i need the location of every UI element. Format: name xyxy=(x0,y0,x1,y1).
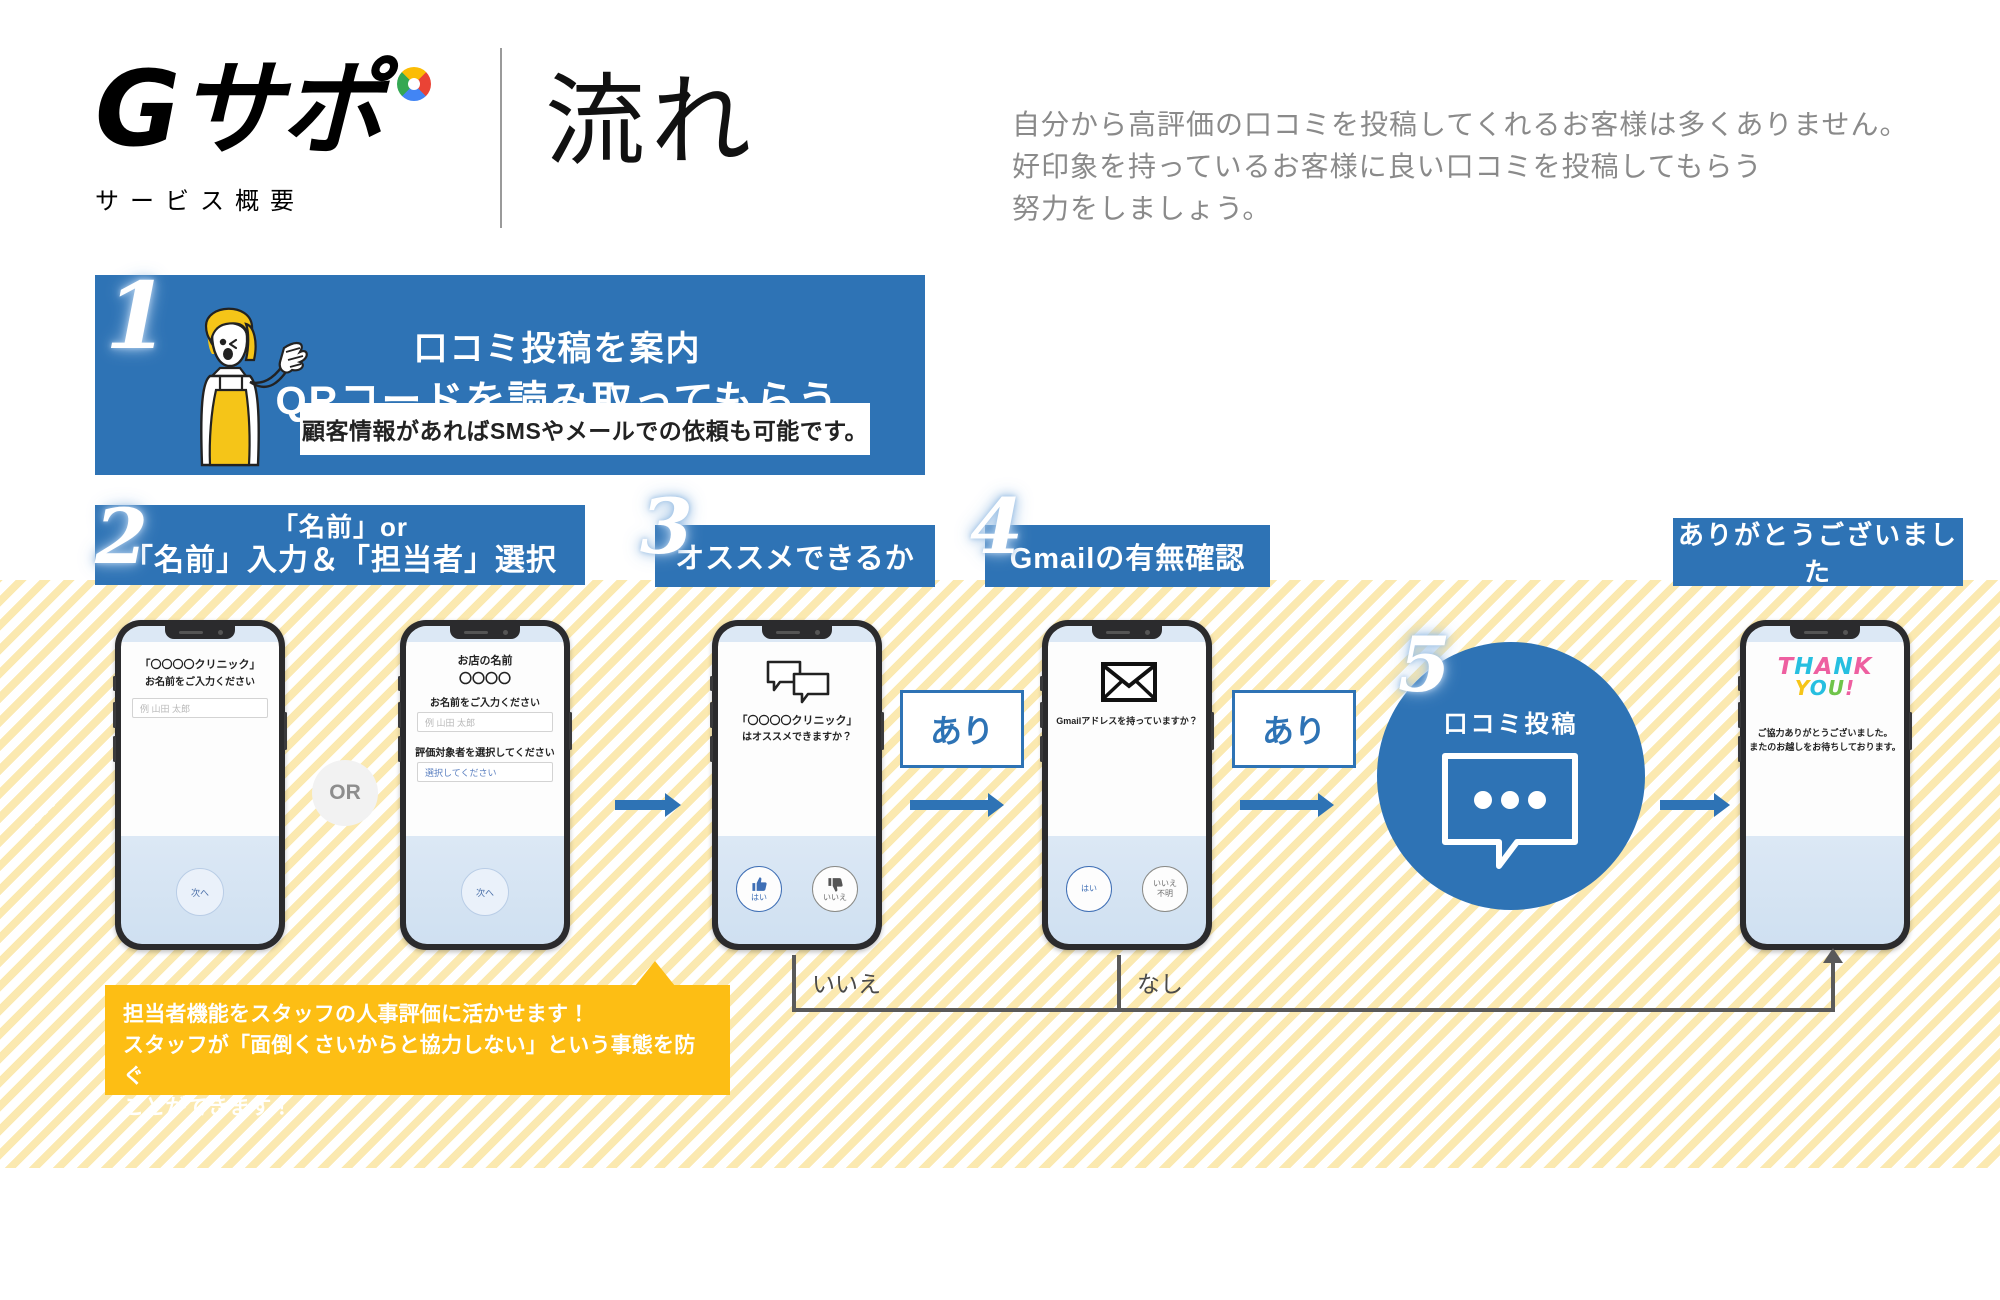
phone-3-yes-label: はい xyxy=(751,893,767,903)
phone-3-no-button[interactable]: いいえ xyxy=(812,866,858,912)
phone-4-no-button[interactable]: いいえ 不明 xyxy=(1142,866,1188,912)
phone-1-notch xyxy=(165,626,235,639)
callout-line-2: スタッフが「面倒くさいからと協力しない」という事態を防ぐ xyxy=(123,1030,712,1092)
step-2-line-2: 「名前」入力＆「担当者」選択 xyxy=(123,543,557,579)
header-divider xyxy=(500,48,502,228)
intro-paragraph: 自分から高評価の口コミを投稿してくれるお客様は多くありません。 好印象を持ってい… xyxy=(1012,104,1972,230)
phone-3-notch xyxy=(762,626,832,639)
phone-2-name-label: お名前をご入力ください xyxy=(406,694,564,709)
google-colors-dot-icon xyxy=(397,67,431,101)
phone-1-subtitle: お名前をご入力ください xyxy=(121,673,279,688)
step-1-line-1: 口コミ投稿を案内 xyxy=(414,325,702,373)
phone-mockup-gmail-question: Gmailアドレスを持っていますか？ はい いいえ 不明 xyxy=(1042,620,1212,950)
flow-line-iie-vertical xyxy=(792,955,796,1010)
phone-4-screen: Gmailアドレスを持っていますか？ はい いいえ 不明 xyxy=(1048,626,1206,944)
phone-2-staff-select[interactable]: 選択してください xyxy=(417,762,553,782)
ari-label-1: あり xyxy=(900,690,1024,768)
staff-feature-callout: 担当者機能をスタッフの人事評価に活かせます！ スタッフが「面倒くさいからと協力し… xyxy=(105,985,730,1095)
flow-line-into-final xyxy=(1831,960,1835,1010)
phone-2-title: お店の名前 xyxy=(406,652,564,668)
phone-2-notch xyxy=(450,626,520,639)
phone-4-yes-label: はい xyxy=(1081,884,1097,894)
thank-you-art-line-2: YOU! xyxy=(1746,676,1904,700)
thumbs-up-icon xyxy=(751,876,768,893)
phone-mockup-name-input: 「〇〇〇〇クリニック」 お名前をご入力ください 例 山田 太郎 次へ xyxy=(115,620,285,950)
phone-3-subtitle: はオススメできますか？ xyxy=(718,728,876,743)
envelope-icon xyxy=(1100,660,1158,704)
phone-1-next-button[interactable]: 次へ xyxy=(176,868,224,916)
intro-line-1: 自分から高評価の口コミを投稿してくれるお客様は多くありません。 xyxy=(1012,104,1972,146)
or-badge: OR xyxy=(312,760,378,826)
arrow-step5-to-final xyxy=(1660,800,1716,810)
phone-5-message-line-2: またのお越しをお待ちしております。 xyxy=(1746,740,1904,753)
phone-3-yes-button[interactable]: はい xyxy=(736,866,782,912)
phone-4-question: Gmailアドレスを持っていますか？ xyxy=(1048,714,1206,727)
step-5-label: 口コミ投稿 xyxy=(1377,704,1645,739)
phone-mockup-thank-you: THANK YOU! ご協力ありがとうございました。 またのお越しをお待ちしてお… xyxy=(1740,620,1910,950)
phone-3-title: 「〇〇〇〇クリニック」 xyxy=(718,712,876,728)
phone-1-title: 「〇〇〇〇クリニック」 xyxy=(121,656,279,672)
speech-bubbles-icon xyxy=(764,658,832,704)
logo-tagline: サービス概要 xyxy=(95,181,475,216)
arrow-step4-to-step5 xyxy=(1240,800,1320,810)
phone-2-select-label: 評価対象者を選択してください xyxy=(406,744,564,759)
flow-label-nashi: なし xyxy=(1137,965,1183,999)
staff-illustration xyxy=(150,290,310,475)
phone-4-no-label-1: いいえ xyxy=(1153,879,1177,889)
step-5-circle: 口コミ投稿 xyxy=(1377,642,1645,910)
phone-1-screen: 「〇〇〇〇クリニック」 お名前をご入力ください 例 山田 太郎 次へ xyxy=(121,626,279,944)
page-title: 流れ xyxy=(545,62,757,182)
phone-2-next-button[interactable]: 次へ xyxy=(461,868,509,916)
flow-line-nashi-vertical xyxy=(1117,955,1121,1010)
step-4-banner: Gmailの有無確認 xyxy=(985,525,1270,587)
step-2-line-1: 「名前」or xyxy=(272,511,408,543)
thank-you-artwork: THANK YOU! xyxy=(1746,654,1904,700)
step-3-banner: オススメできるか xyxy=(655,525,935,587)
phone-5-message-line-1: ご協力ありがとうございました。 xyxy=(1746,726,1904,739)
phone-1-name-input[interactable]: 例 山田 太郎 xyxy=(132,698,268,718)
thumbs-down-icon xyxy=(827,876,844,893)
phone-3-screen: 「〇〇〇〇クリニック」 はオススメできますか？ はい いいえ xyxy=(718,626,876,944)
phone-5-notch xyxy=(1790,626,1860,639)
callout-tail xyxy=(635,961,675,986)
ari-label-2: あり xyxy=(1232,690,1356,768)
arrow-step2-to-step3 xyxy=(615,800,667,810)
flow-arrowhead-into-final xyxy=(1823,948,1843,963)
phone-2-screen: お店の名前 〇〇〇〇 お名前をご入力ください 例 山田 太郎 評価対象者を選択し… xyxy=(406,626,564,944)
phone-2-name-input[interactable]: 例 山田 太郎 xyxy=(417,712,553,732)
phone-4-no-label-2: 不明 xyxy=(1157,889,1173,899)
arrow-step3-to-step4 xyxy=(910,800,990,810)
final-banner: ありがとうございました xyxy=(1673,518,1963,586)
flow-line-horizontal xyxy=(792,1008,1835,1012)
phone-mockup-recommend-question: 「〇〇〇〇クリニック」 はオススメできますか？ はい いいえ xyxy=(712,620,882,950)
phone-2-title-2: 〇〇〇〇 xyxy=(406,668,564,687)
callout-line-3: ことができます！ xyxy=(123,1092,712,1123)
step-1-note: 顧客情報があればSMSやメールでの依頼も可能です。 xyxy=(300,403,870,455)
phone-mockup-name-and-staff: お店の名前 〇〇〇〇 お名前をご入力ください 例 山田 太郎 評価対象者を選択し… xyxy=(400,620,570,950)
flow-label-iie: いいえ xyxy=(812,965,881,999)
phone-4-yes-button[interactable]: はい xyxy=(1066,866,1112,912)
phone-3-no-label: いいえ xyxy=(823,893,847,903)
phone-4-notch xyxy=(1092,626,1162,639)
brand-logo: Gサポ サービス概要 xyxy=(95,55,475,230)
callout-line-1: 担当者機能をスタッフの人事評価に活かせます！ xyxy=(123,999,712,1030)
intro-line-3: 努力をしましょう。 xyxy=(1012,188,1972,230)
step-2-banner: 「名前」or 「名前」入力＆「担当者」選択 xyxy=(95,505,585,585)
review-bubble-icon xyxy=(1439,750,1581,872)
phone-5-screen: THANK YOU! ご協力ありがとうございました。 またのお越しをお待ちしてお… xyxy=(1746,626,1904,944)
intro-line-2: 好印象を持っているお客様に良い口コミを投稿してもらう xyxy=(1012,146,1972,188)
